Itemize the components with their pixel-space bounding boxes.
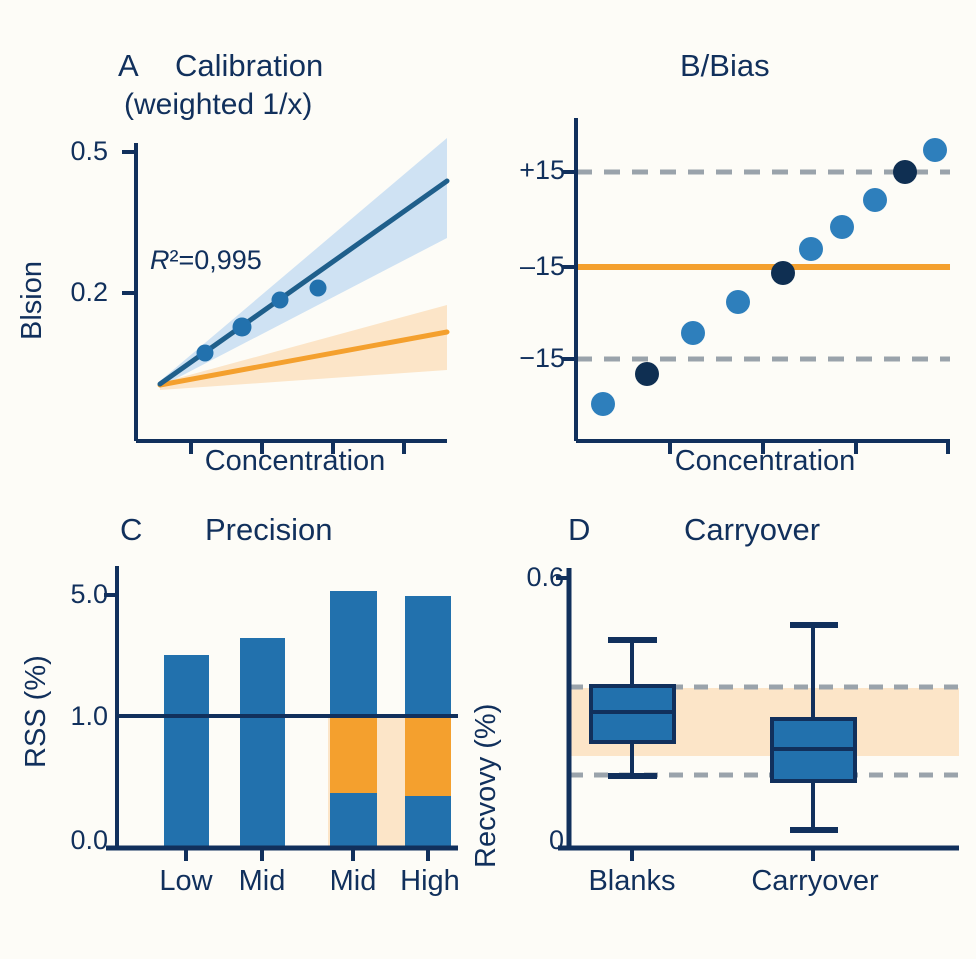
panel-b-bias: B/Bias +15 –15 −15 [480, 0, 976, 500]
panel-a-plot [0, 0, 480, 500]
panel-d-category-blanks: Blanks [562, 865, 702, 898]
panel-a-data-point [310, 280, 327, 297]
panel-d-category-carryover: Carryover [720, 865, 910, 898]
panel-b-data-point [726, 290, 750, 314]
panel-b-data-point [681, 321, 705, 345]
panel-a-xlabel: Concentration [150, 445, 440, 478]
panel-a-data-point [272, 292, 289, 309]
panel-c-category-high: High [380, 865, 480, 898]
figure-canvas: A Calibration (weighted 1/x) 0.5 0.2 Bls… [0, 0, 976, 959]
panel-c-bar-overlay [405, 716, 451, 796]
panel-b-data-point [799, 237, 823, 261]
panel-b-data-point [830, 215, 854, 239]
panel-a-data-point [197, 345, 214, 362]
panel-b-plot [480, 0, 976, 500]
panel-b-data-point [635, 362, 659, 386]
panel-b-data-point [771, 261, 795, 285]
panel-d-boxplot-carryover [772, 625, 855, 830]
panel-c-precision: C Precision 5.0 1.0 0.0 RSS (%) [0, 500, 480, 959]
panel-a-data-point [233, 318, 252, 337]
panel-b-data-point [863, 188, 887, 212]
panel-b-data-point [923, 138, 947, 162]
panel-c-bar [164, 655, 209, 848]
panel-b-data-point [591, 392, 615, 416]
panel-c-bar-overlay [330, 716, 377, 793]
panel-c-bar [240, 638, 285, 848]
panel-b-xlabel: Concentration [600, 445, 930, 478]
panel-d-carryover: D Carryover 0.6 0 Recvovy (%) [480, 500, 976, 959]
panel-b-data-point [893, 160, 917, 184]
panel-c-category-mid-1: Mid [217, 865, 307, 898]
panel-a-calibration: A Calibration (weighted 1/x) 0.5 0.2 Bls… [0, 0, 480, 500]
